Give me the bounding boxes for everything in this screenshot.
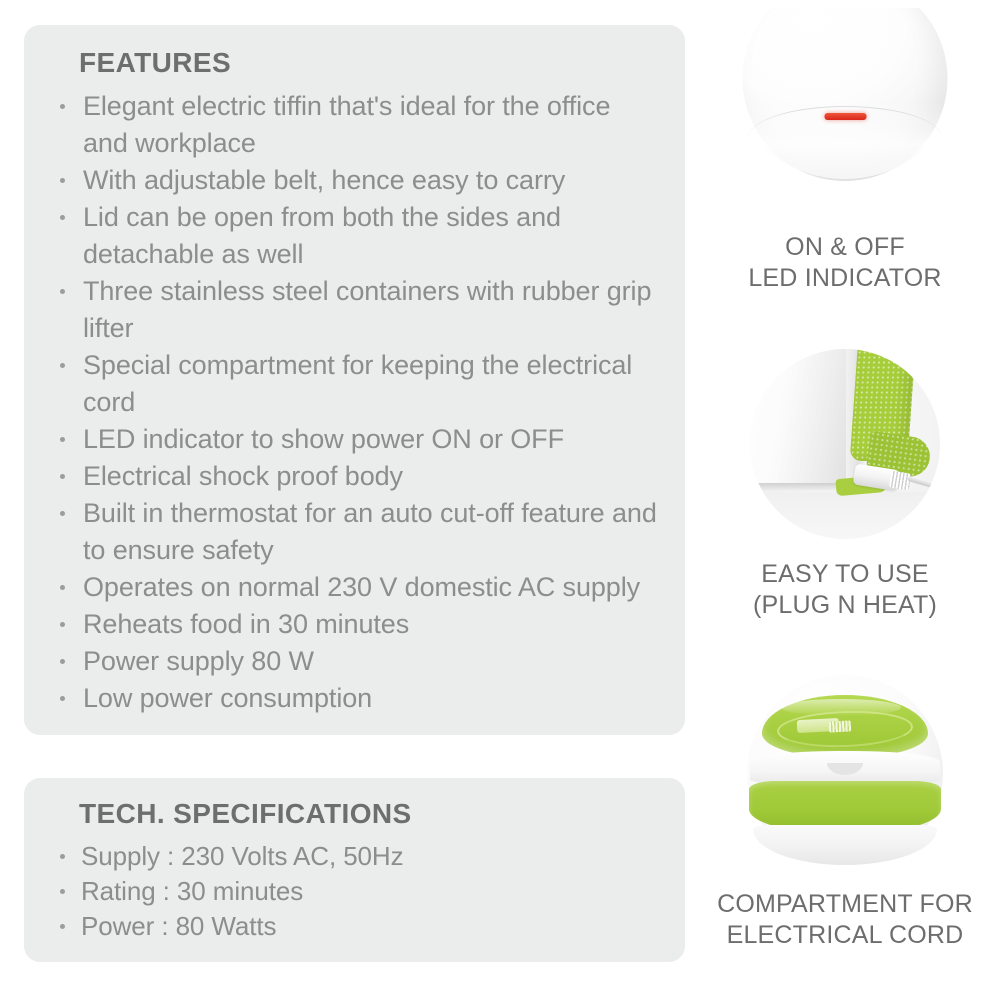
list-item: Special compartment for keeping the elec… — [52, 347, 659, 421]
list-item-text: Built in thermostat for an auto cut-off … — [83, 498, 657, 565]
list-item-text: Power : 80 Watts — [81, 911, 276, 941]
features-panel: FEATURES Elegant electric tiffin that's … — [24, 25, 685, 735]
list-item: Power supply 80 W — [52, 643, 659, 680]
list-item-text: Three stainless steel containers with ru… — [83, 276, 651, 343]
list-item-text: Supply : 230 Volts AC, 50Hz — [81, 841, 404, 871]
features-title: FEATURES — [79, 47, 659, 79]
bullet-dot — [60, 585, 65, 590]
plug-n-heat-product-image — [690, 335, 1000, 547]
list-item-text: Special compartment for keeping the elec… — [83, 350, 632, 417]
highlight-card-cord-compartment: COMPARTMENT FOR ELECTRICAL CORD — [690, 665, 1000, 975]
list-item-text: Low power consumption — [83, 683, 372, 713]
features-list: Elegant electric tiffin that's ideal for… — [52, 88, 659, 717]
tiffin-base — [753, 825, 937, 865]
list-item-text: LED indicator to show power ON or OFF — [83, 424, 564, 454]
caption-line-1: ON & OFF — [690, 232, 1000, 263]
bullet-dot — [60, 659, 65, 664]
list-item-text: Lid can be open from both the sides and … — [83, 202, 561, 269]
caption-line-2: LED INDICATOR — [690, 263, 1000, 294]
bullet-dot — [60, 511, 65, 516]
bullet-dot — [60, 924, 65, 929]
bullet-dot — [60, 289, 65, 294]
bullet-dot — [60, 215, 65, 220]
led-indicator-product-image — [690, 8, 1000, 220]
list-item-text: Reheats food in 30 minutes — [83, 609, 409, 639]
bullet-dot — [60, 889, 65, 894]
list-item: Lid can be open from both the sides and … — [52, 199, 659, 273]
highlights-column: ON & OFF LED INDICATOR EASY TO USE (PLUG… — [690, 0, 1000, 1000]
list-item: Elegant electric tiffin that's ideal for… — [52, 88, 659, 162]
list-item: Reheats food in 30 minutes — [52, 606, 659, 643]
white-dome-icon — [743, 8, 948, 181]
list-item-text: Rating : 30 minutes — [81, 876, 303, 906]
highlight-caption: EASY TO USE (PLUG N HEAT) — [690, 559, 1000, 621]
list-item: Supply : 230 Volts AC, 50Hz — [52, 839, 659, 874]
cord-compartment-product-image — [690, 665, 1000, 877]
red-led-icon — [824, 113, 866, 120]
bullet-dot — [60, 437, 65, 442]
list-item: Operates on normal 230 V domestic AC sup… — [52, 569, 659, 606]
bullet-dot — [60, 622, 65, 627]
caption-line-1: EASY TO USE — [690, 559, 1000, 590]
highlight-card-easy-to-use: EASY TO USE (PLUG N HEAT) — [690, 335, 1000, 635]
photo-floor — [750, 492, 940, 539]
list-item: Power : 80 Watts — [52, 909, 659, 944]
highlight-caption: COMPARTMENT FOR ELECTRICAL CORD — [690, 889, 1000, 951]
list-item-text: Operates on normal 230 V domestic AC sup… — [83, 572, 640, 602]
list-item-text: Electrical shock proof body — [83, 461, 403, 491]
list-item: Low power consumption — [52, 680, 659, 717]
list-item: Three stainless steel containers with ru… — [52, 273, 659, 347]
tiffin-body — [750, 349, 854, 485]
tech-specifications-list: Supply : 230 Volts AC, 50Hz Rating : 30 … — [52, 839, 659, 944]
bullet-dot — [60, 474, 65, 479]
bullet-dot — [60, 104, 65, 109]
tech-specifications-title: TECH. SPECIFICATIONS — [79, 798, 659, 830]
list-item-text: With adjustable belt, hence easy to carr… — [83, 165, 565, 195]
tiffin-icon — [747, 675, 943, 865]
list-item: Electrical shock proof body — [52, 458, 659, 495]
circular-photo-crop — [750, 349, 940, 539]
list-item: Rating : 30 minutes — [52, 874, 659, 909]
caption-line-2: ELECTRICAL CORD — [690, 920, 1000, 951]
bullet-dot — [60, 178, 65, 183]
list-item: Built in thermostat for an auto cut-off … — [52, 495, 659, 569]
highlight-caption: ON & OFF LED INDICATOR — [690, 232, 1000, 294]
bullet-dot — [60, 696, 65, 701]
cord-plug-ribs — [829, 720, 852, 732]
list-item: With adjustable belt, hence easy to carr… — [52, 162, 659, 199]
bullet-dot — [60, 363, 65, 368]
tech-specifications-panel: TECH. SPECIFICATIONS Supply : 230 Volts … — [24, 778, 685, 962]
list-item-text: Elegant electric tiffin that's ideal for… — [83, 91, 610, 158]
highlight-card-led-indicator: ON & OFF LED INDICATOR — [690, 8, 1000, 308]
caption-line-2: (PLUG N HEAT) — [690, 590, 1000, 621]
power-cord — [907, 476, 940, 493]
caption-line-1: COMPARTMENT FOR — [690, 889, 1000, 920]
list-item-text: Power supply 80 W — [83, 646, 314, 676]
bullet-dot — [60, 854, 65, 859]
list-item: LED indicator to show power ON or OFF — [52, 421, 659, 458]
